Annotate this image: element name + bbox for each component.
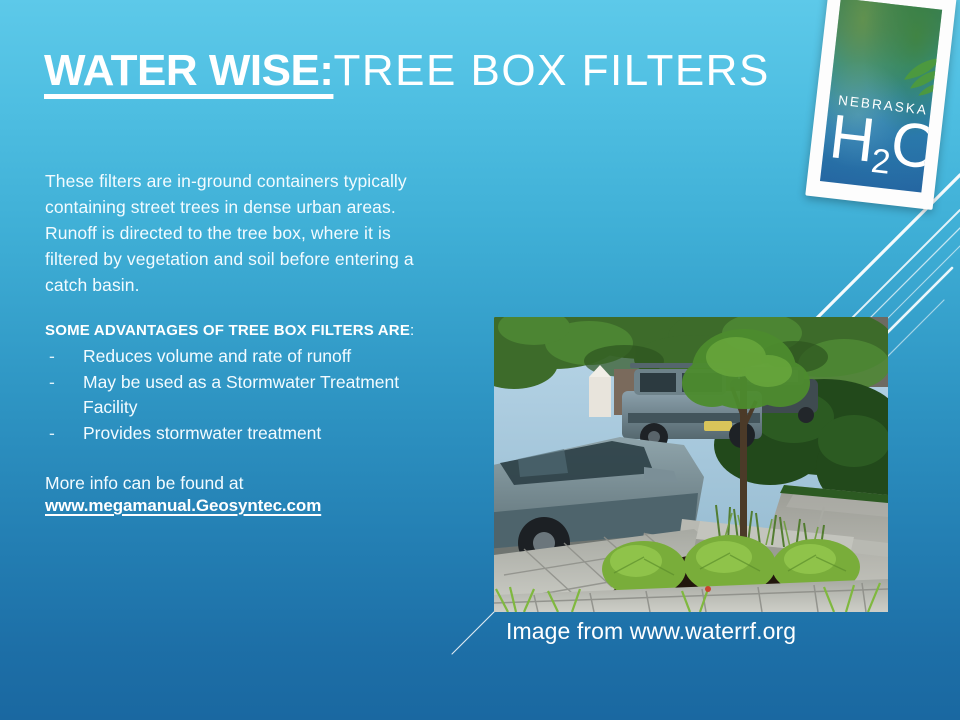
advantages-heading-colon: : bbox=[410, 322, 414, 339]
leaf-icon bbox=[882, 48, 942, 102]
advantages-heading: SOME ADVANTAGES OF TREE BOX FILTERS ARE: bbox=[45, 320, 435, 342]
tree-box-filter-photo bbox=[494, 317, 888, 612]
title-rest: TREE BOX FILTERS bbox=[333, 46, 769, 95]
nebraska-h2o-logo: NEBRASKA H2O bbox=[803, 0, 960, 227]
logo-o: O bbox=[887, 109, 942, 183]
list-item: -Reduces volume and rate of runoff bbox=[45, 344, 435, 369]
list-item-label: May be used as a Stormwater Treatment Fa… bbox=[83, 372, 399, 417]
logo-line-h2o: H2O bbox=[824, 106, 941, 192]
logo-image: NEBRASKA H2O bbox=[820, 0, 942, 193]
logo-frame: NEBRASKA H2O bbox=[805, 0, 956, 210]
more-info-block: More info can be found at www.megamanual… bbox=[45, 470, 435, 516]
slide-canvas: WATER WISE:TREE BOX FILTERS These filter… bbox=[0, 0, 960, 720]
more-info-text: More info can be found at bbox=[45, 470, 435, 496]
photo-caption: Image from www.waterrf.org bbox=[506, 618, 796, 645]
bullet-dash-icon: - bbox=[49, 421, 55, 446]
megamanual-link[interactable]: www.megamanual.Geosyntec.com bbox=[45, 496, 321, 516]
list-item-label: Reduces volume and rate of runoff bbox=[83, 346, 351, 366]
body-content: These filters are in-ground containers t… bbox=[45, 168, 435, 516]
advantages-heading-text: SOME ADVANTAGES OF TREE BOX FILTERS ARE bbox=[45, 322, 410, 339]
advantages-list: -Reduces volume and rate of runoff -May … bbox=[45, 344, 435, 446]
list-item-label: Provides stormwater treatment bbox=[83, 423, 321, 443]
bullet-dash-icon: - bbox=[49, 344, 55, 369]
intro-paragraph: These filters are in-ground containers t… bbox=[45, 168, 435, 298]
page-title: WATER WISE:TREE BOX FILTERS bbox=[44, 48, 824, 94]
title-strong: WATER WISE: bbox=[44, 46, 333, 95]
bullet-dash-icon: - bbox=[49, 370, 55, 395]
list-item: -Provides stormwater treatment bbox=[45, 421, 435, 446]
logo-h: H bbox=[826, 102, 877, 176]
list-item: -May be used as a Stormwater Treatment F… bbox=[45, 370, 435, 420]
